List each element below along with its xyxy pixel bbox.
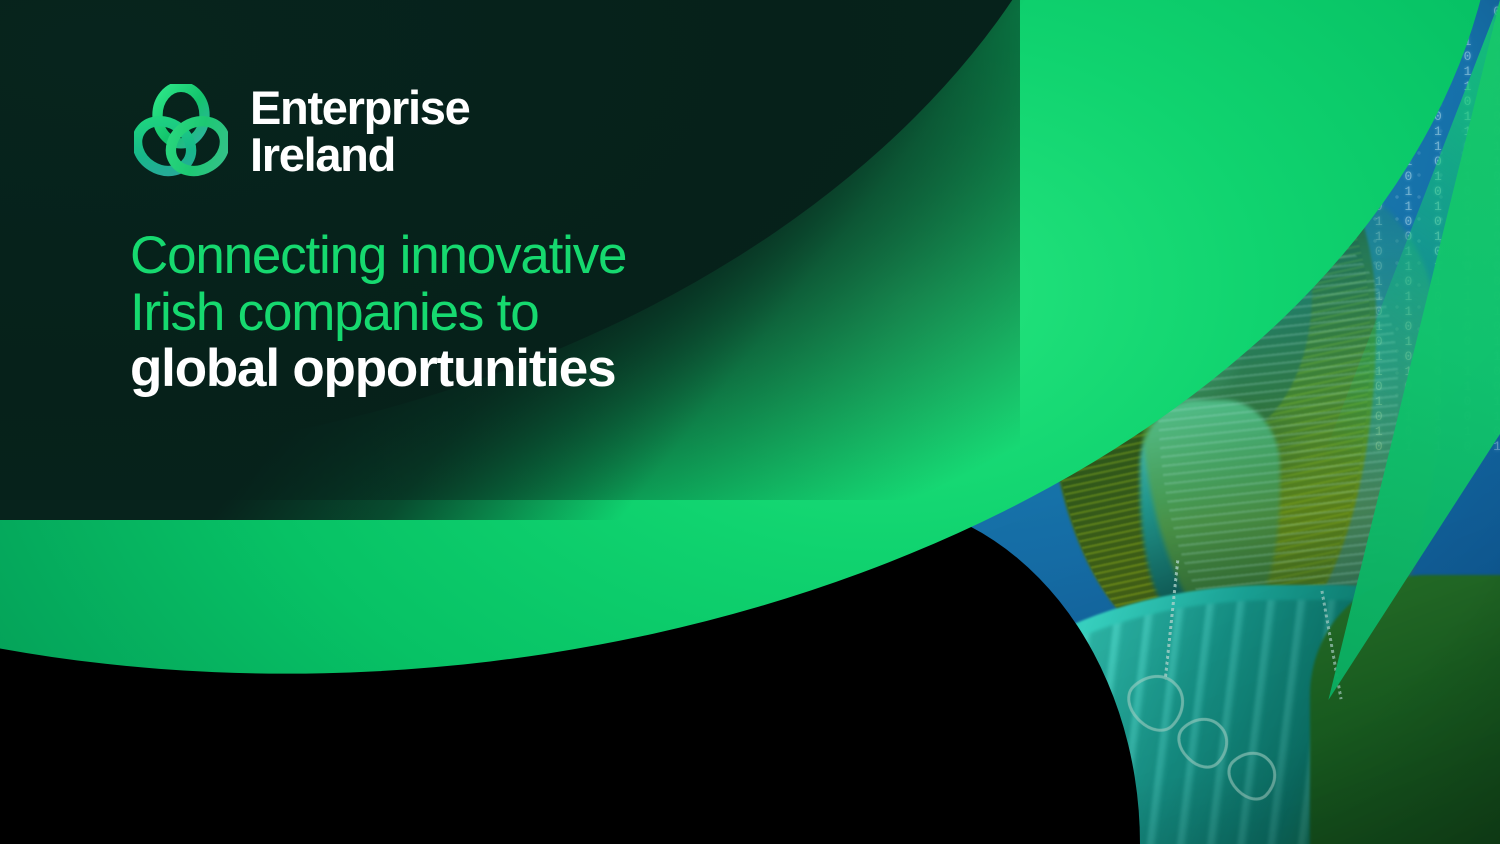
enterprise-ireland-trefoil-knot-icon bbox=[134, 84, 228, 180]
brand-lockup[interactable]: Enterprise Ireland bbox=[134, 84, 469, 180]
hero-banner: 1 0 1 1 0 0 1 0 1 1 0 1 0 0 1 1 0 1 0 1 … bbox=[0, 0, 1500, 844]
headline-line-3: global opportunities bbox=[130, 341, 626, 398]
brand-name-line1: Enterprise bbox=[250, 85, 469, 132]
page-title: Connecting innovative Irish companies to… bbox=[130, 228, 626, 398]
hero-content: Enterprise Ireland Connecting innovative… bbox=[0, 0, 900, 844]
brand-name-line2: Ireland bbox=[250, 132, 469, 179]
headline-line-2: Irish companies to bbox=[130, 285, 626, 342]
headline-line-1: Connecting innovative bbox=[130, 228, 626, 285]
brand-wordmark: Enterprise Ireland bbox=[250, 85, 469, 178]
